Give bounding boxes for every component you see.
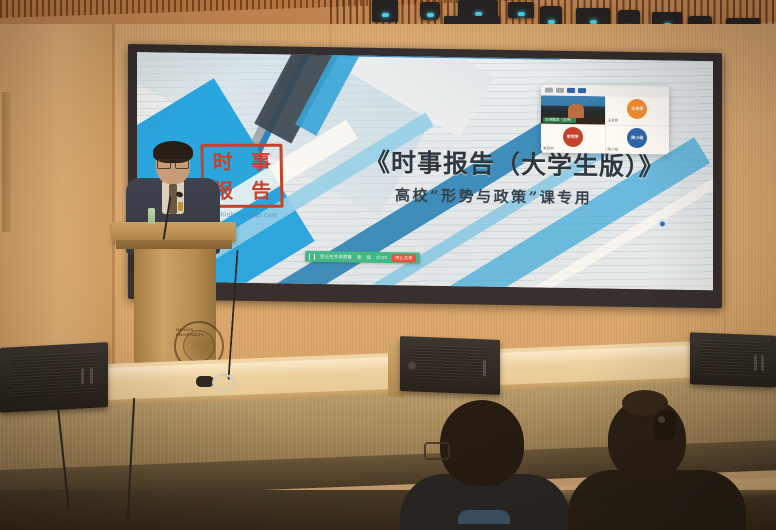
video-control[interactable]: 视 <box>367 254 371 260</box>
side-door-panel <box>2 92 11 232</box>
participant-grid: 主讲嘉宾（主持） 王老师 王老师 李同学 <box>541 95 669 154</box>
mic-control[interactable]: 麦 <box>357 254 361 260</box>
participant-name: 王老师 <box>608 119 619 124</box>
eyeglasses-icon <box>424 442 450 460</box>
stage-monitor-right <box>690 332 776 387</box>
lecture-hall-photo: 时 事 报 告 www.shishibaogao.com 《时事报告（大学生版）… <box>0 0 776 530</box>
avatar: 王老师 <box>627 99 647 119</box>
screen-share-status-bar[interactable]: 您正在共享屏幕 麦 视 37:25 停止共享 <box>305 251 420 264</box>
stage-monitor-center <box>400 336 500 395</box>
participant-label: 王老师 <box>608 119 619 124</box>
participant-tile[interactable]: 王老师 王老师 <box>606 97 670 126</box>
stop-share-button[interactable]: 停止共享 <box>392 254 416 262</box>
wall-seam <box>330 26 331 48</box>
audience-member-right <box>578 398 728 530</box>
lanyard-badge <box>178 202 183 211</box>
podium-lip <box>116 240 232 249</box>
headset-microphone <box>196 374 230 388</box>
share-status-text: 您正在共享屏幕 <box>320 254 352 261</box>
eyeglasses-icon <box>157 159 189 167</box>
participant-name: 主讲嘉宾（主持） <box>543 118 576 124</box>
minimize-icon[interactable] <box>545 88 553 93</box>
video-conference-panel[interactable]: 主讲嘉宾（主持） 王老师 王老师 李同学 <box>541 84 669 154</box>
emblem-top-text: HAINAN UNIVERSITY <box>176 327 222 337</box>
cursor-dot-icon <box>657 218 667 228</box>
participant-tile[interactable]: 李同学 李同学 <box>541 124 605 153</box>
seal-char: 告 <box>242 176 280 204</box>
share-timer: 37:25 <box>376 255 387 260</box>
avatar-initials: 王老师 <box>627 106 647 112</box>
participant-name: 李同学 <box>543 147 554 152</box>
stage-monitor-left <box>0 342 108 413</box>
avatar-initials: 李同学 <box>563 134 583 140</box>
audience-member-left <box>418 400 548 530</box>
seal-char: 事 <box>242 147 280 175</box>
avatar: 李同学 <box>563 127 583 147</box>
stage-light-icon <box>372 0 398 22</box>
wall-left-column <box>0 24 112 384</box>
podium-top <box>112 222 236 242</box>
participant-tile[interactable]: 陈小组 陈小组 <box>606 126 670 155</box>
avatar: 陈小组 <box>627 128 647 148</box>
stage-light-icon <box>508 2 534 18</box>
grid-view-icon[interactable] <box>567 88 575 93</box>
wall-seam <box>724 56 725 356</box>
avatar-initials: 陈小组 <box>627 135 647 141</box>
participant-tile-video[interactable]: 主讲嘉宾（主持） <box>541 95 605 124</box>
participant-name: 陈小组 <box>608 148 619 153</box>
pause-icon[interactable] <box>309 253 315 259</box>
water-bottle <box>148 208 155 224</box>
participant-label: 李同学 <box>543 147 554 152</box>
restore-icon[interactable] <box>556 88 564 93</box>
fullscreen-icon[interactable] <box>578 88 586 93</box>
hair-clip <box>654 410 676 440</box>
participant-label: 陈小组 <box>608 148 619 153</box>
stage-light-icon <box>420 2 440 20</box>
